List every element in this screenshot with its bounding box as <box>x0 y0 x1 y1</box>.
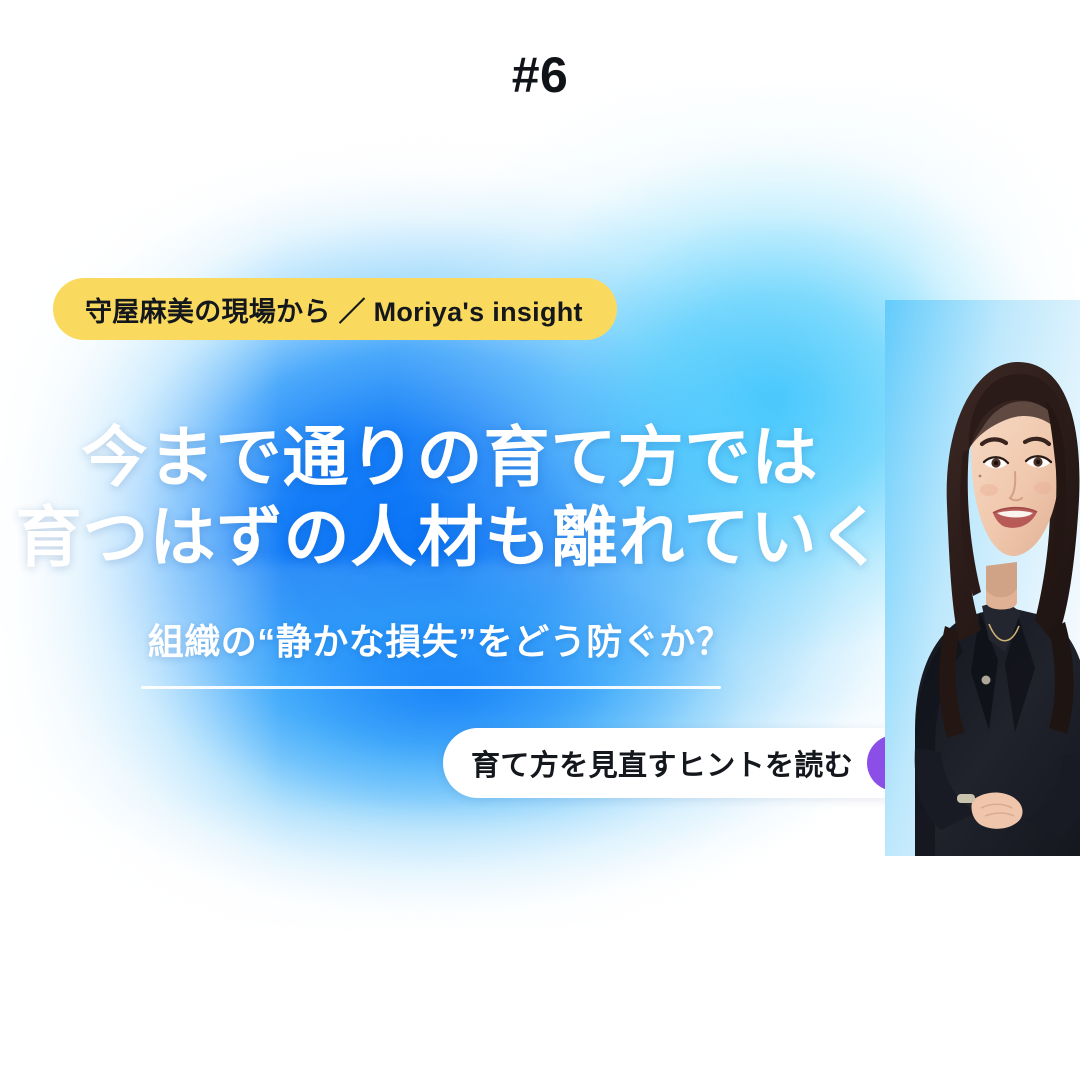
page-subtitle: 組織の“静かな損失”をどう防ぐか？ <box>0 613 880 665</box>
read-more-button[interactable]: 育て方を見直すヒントを読む <box>443 728 945 798</box>
issue-number: #6 <box>0 48 1080 103</box>
read-more-button-label: 育て方を見直すヒントを読む <box>471 742 853 784</box>
moriya-asami-portrait <box>885 300 1080 856</box>
headline-line-1: 今まで通りの育て方では <box>0 418 900 498</box>
series-badge-label: 守屋麻美の現場から ／ Moriya's insight <box>85 290 583 329</box>
poster-canvas: #6 守屋麻美の現場から ／ Moriya's insight 今まで通りの育て… <box>0 0 1080 1080</box>
divider <box>141 686 721 689</box>
page-title: 今まで通りの育て方では 育つはずの人材も離れていく <box>0 418 900 578</box>
series-badge: 守屋麻美の現場から ／ Moriya's insight <box>53 278 617 340</box>
headline-line-2: 育つはずの人材も離れていく <box>0 498 900 578</box>
